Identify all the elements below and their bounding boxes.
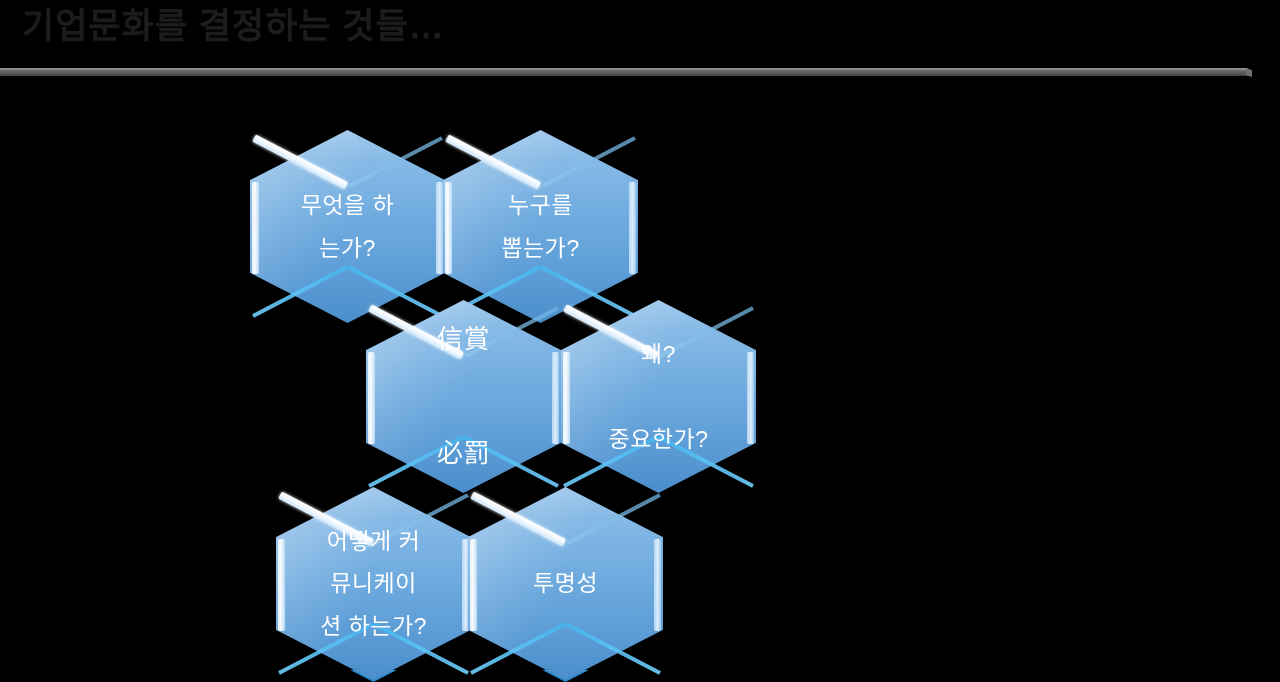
hexagon-body: [443, 130, 638, 323]
hexagon-transparency[interactable]: 투명성: [468, 487, 663, 680]
hexagon-who-we-hire[interactable]: 누구를 뽑는가?: [443, 130, 638, 323]
hexagon-body: [276, 487, 471, 680]
hexagon-how-we-communicate[interactable]: 어떻게 커 뮤니케이 션 하는가?: [276, 487, 471, 680]
hexagon-why-important[interactable]: 왜? 중요한가?: [561, 300, 756, 493]
hexagon-diagram: 무엇을 하 는가?누구를 뽑는가?信賞 必罰왜? 중요한가?어떻게 커 뮤니케이…: [0, 0, 1280, 670]
hexagon-reward-and-punishment[interactable]: 信賞 必罰: [366, 300, 561, 493]
hexagon-body: [561, 300, 756, 493]
hexagon-body: [250, 130, 445, 323]
hexagon-body: [468, 487, 663, 680]
hexagon-body: [366, 300, 561, 493]
slide-canvas: 기업문화를 결정하는 것들… 무엇을 하 는가?누구를 뽑는가?信賞 必罰왜? …: [0, 0, 1280, 670]
hexagon-what-we-do[interactable]: 무엇을 하 는가?: [250, 130, 445, 323]
